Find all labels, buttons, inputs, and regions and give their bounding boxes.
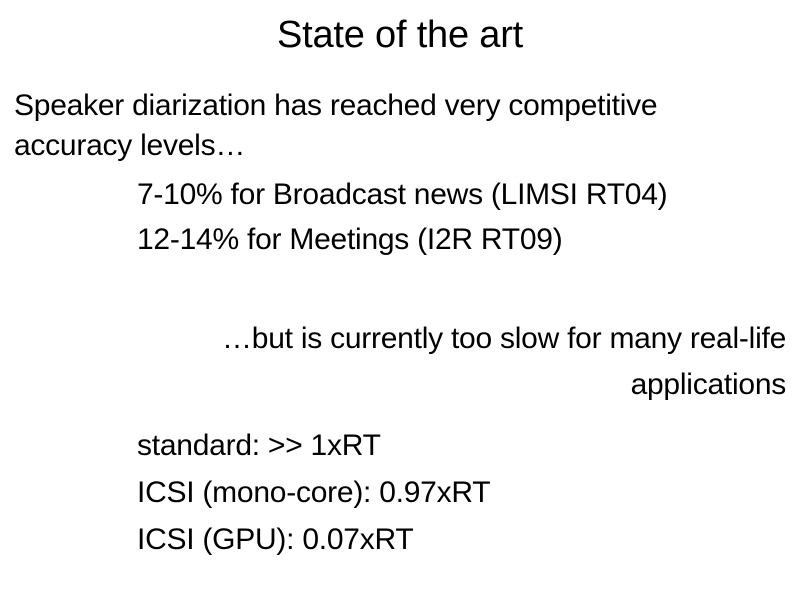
slide-body-textbox: Speaker diarization has reached very com… — [14, 86, 786, 563]
slide-title: State of the art — [0, 12, 800, 58]
accuracy-result-broadcast-news: 7-10% for Broadcast news (LIMSI RT04) — [137, 172, 786, 217]
accuracy-result-meetings: 12-14% for Meetings (I2R RT09) — [137, 217, 786, 262]
speed-result-icsi-gpu: ICSI (GPU): 0.07xRT — [137, 516, 786, 563]
speed-results-group: standard: >> 1xRT ICSI (mono-core): 0.97… — [14, 422, 786, 563]
limitation-statement: …but is currently too slow for many real… — [137, 316, 786, 408]
speed-result-standard: standard: >> 1xRT — [137, 422, 786, 469]
speed-result-icsi-mono-core: ICSI (mono-core): 0.97xRT — [137, 469, 786, 516]
intro-paragraph: Speaker diarization has reached very com… — [14, 86, 704, 166]
presentation-slide: State of the art Speaker diarization has… — [0, 0, 800, 599]
